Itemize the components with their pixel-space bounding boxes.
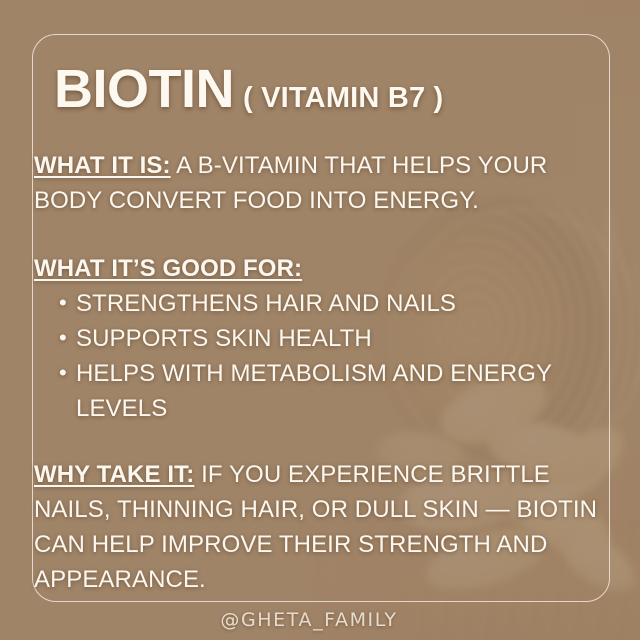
- section-spacer: [34, 426, 612, 457]
- section-spacer: [34, 218, 612, 251]
- post-content: BIOTIN( VITAMIN B7 ) WHAT IT IS: A B-VIT…: [0, 0, 640, 640]
- section-good-for-lead-wrap: WHAT IT’S GOOD FOR:: [34, 251, 612, 286]
- account-watermark: @GHETA_FAMILY: [0, 609, 640, 631]
- title-subtitle: ( VITAMIN B7 ): [243, 82, 443, 114]
- section-why-take-it-lead: WHY TAKE IT:: [34, 461, 194, 488]
- section-good-for-lead: WHAT IT’S GOOD FOR:: [34, 255, 302, 282]
- infographic-post: BIOTIN( VITAMIN B7 ) WHAT IT IS: A B-VIT…: [0, 0, 640, 640]
- list-item: HELPS WITH METABOLISM AND ENERGY LEVELS: [76, 356, 612, 426]
- page-title: BIOTIN( VITAMIN B7 ): [54, 58, 443, 120]
- section-what-it-is-lead: WHAT IT IS:: [34, 152, 171, 179]
- benefits-list: STRENGTHENS HAIR AND NAILS SUPPORTS SKIN…: [34, 286, 612, 426]
- section-why-take-it: WHY TAKE IT: IF YOU EXPERIENCE BRITTLE N…: [34, 457, 612, 597]
- list-item: STRENGTHENS HAIR AND NAILS: [76, 286, 612, 321]
- list-item: SUPPORTS SKIN HEALTH: [76, 321, 612, 356]
- section-what-it-is: WHAT IT IS: A B-VITAMIN THAT HELPS YOUR …: [34, 148, 612, 218]
- body-copy: WHAT IT IS: A B-VITAMIN THAT HELPS YOUR …: [34, 148, 612, 597]
- title-main: BIOTIN: [54, 59, 234, 119]
